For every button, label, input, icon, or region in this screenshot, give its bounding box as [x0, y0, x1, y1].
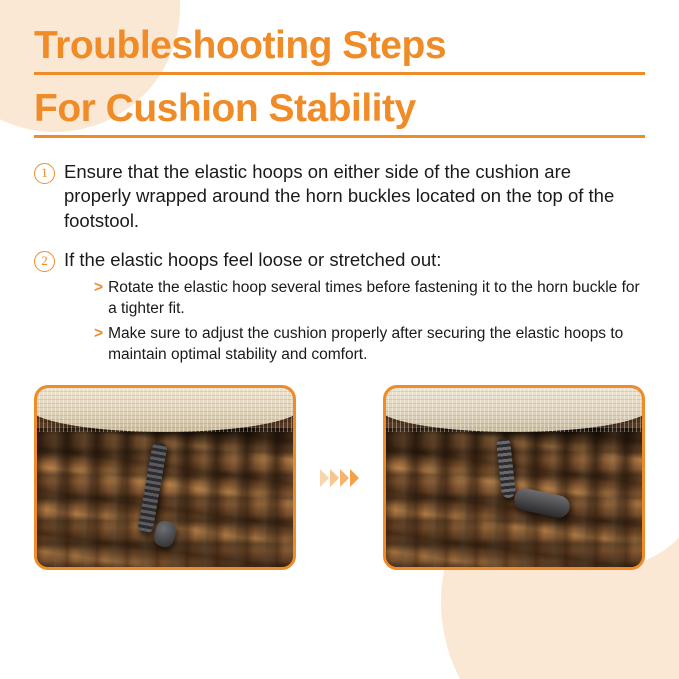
photo-inner-right: [386, 388, 642, 567]
page-root: Troubleshooting Steps For Cushion Stabil…: [0, 0, 679, 679]
steps-list: 1 Ensure that the elastic hoops on eithe…: [0, 138, 679, 369]
cushion-edge: [383, 386, 645, 432]
page-content: Troubleshooting Steps For Cushion Stabil…: [0, 0, 679, 570]
sub-item-1-text: Rotate the elastic hoop several times be…: [108, 278, 641, 320]
page-title-line-2: For Cushion Stability: [34, 89, 645, 130]
chevron-bullet-icon: >: [94, 324, 103, 345]
loose-elastic-hoop-photo: [34, 385, 296, 570]
step-text-1: Ensure that the elastic hoops on either …: [64, 160, 641, 234]
step-item-1: 1 Ensure that the elastic hoops on eithe…: [34, 160, 641, 234]
sub-item-1: > Rotate the elastic hoop several times …: [94, 278, 641, 320]
step-text-2: If the elastic hoops feel loose or stret…: [64, 248, 641, 273]
cushion-shadow: [386, 428, 642, 462]
chevron-bullet-icon: >: [94, 278, 103, 299]
chevron-right-arrows: [320, 469, 359, 487]
title-block: Troubleshooting Steps For Cushion Stabil…: [0, 0, 679, 138]
chevron-right-icon: [320, 469, 329, 487]
wrapped-elastic-hoop-photo: [383, 385, 645, 570]
chevron-right-icon: [340, 469, 349, 487]
page-title-line-1: Troubleshooting Steps: [34, 26, 645, 67]
title-underline-1: [34, 72, 645, 75]
step-2-body: If the elastic hoops feel loose or stret…: [64, 248, 641, 370]
sub-item-2-text: Make sure to adjust the cushion properly…: [108, 324, 641, 366]
step-2-sub-list: > Rotate the elastic hoop several times …: [64, 278, 641, 365]
step-number-1: 1: [34, 163, 55, 184]
chevron-right-icon: [350, 469, 359, 487]
sub-item-2: > Make sure to adjust the cushion proper…: [94, 324, 641, 366]
photo-inner-left: [37, 388, 293, 567]
figure-row: [0, 385, 679, 570]
chevron-right-icon: [330, 469, 339, 487]
cushion-edge: [34, 386, 296, 432]
step-item-2: 2 If the elastic hoops feel loose or str…: [34, 248, 641, 370]
step-number-2: 2: [34, 251, 55, 272]
